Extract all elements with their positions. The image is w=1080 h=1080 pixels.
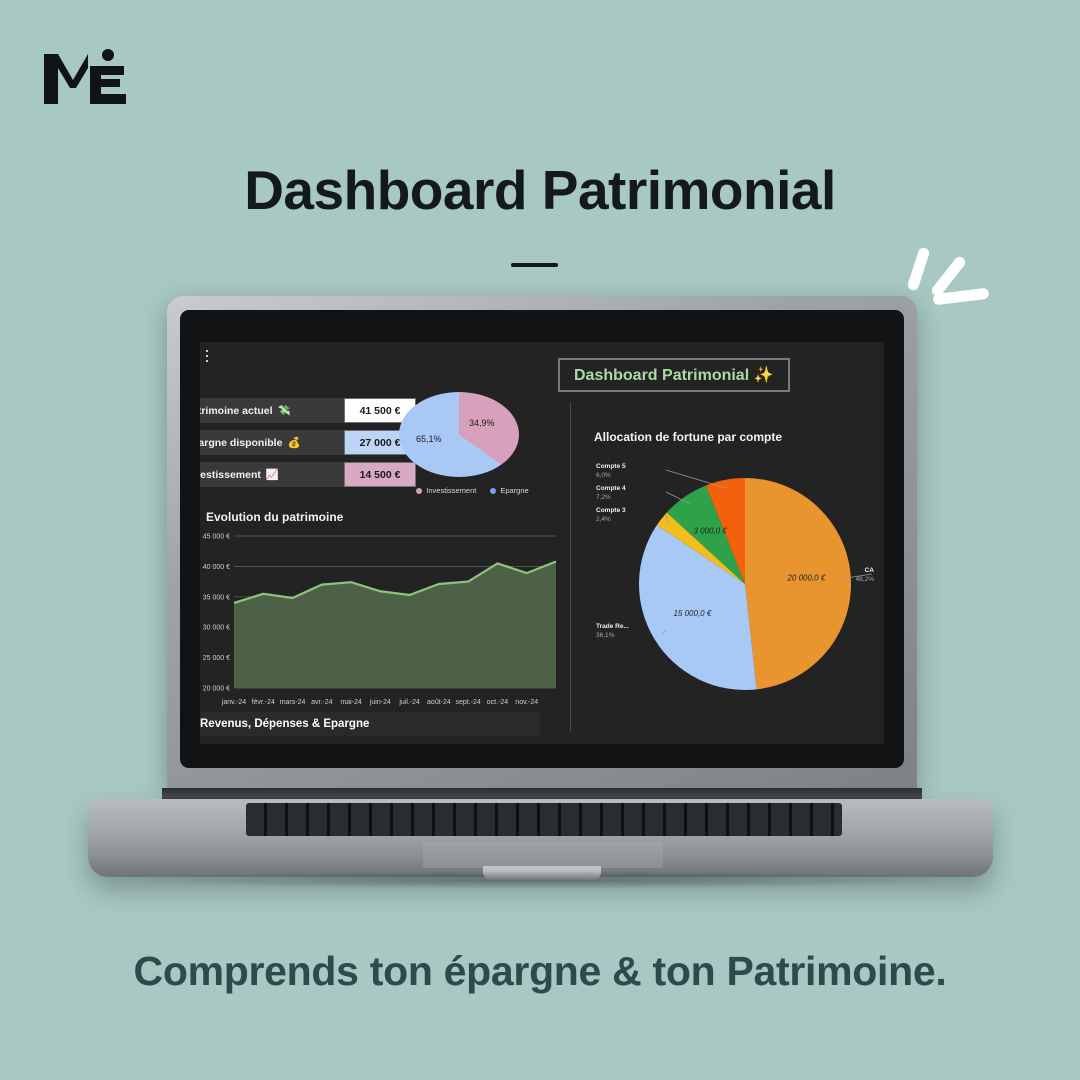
laptop-screen: Dashboard Patrimonial ✨ Patrimoine actue… <box>200 342 884 744</box>
svg-text:20 000,0 €: 20 000,0 € <box>786 574 825 583</box>
area-fill <box>234 562 556 689</box>
dashboard-app: Dashboard Patrimonial ✨ Patrimoine actue… <box>200 342 884 744</box>
svg-text:Compte 4: Compte 4 <box>596 485 626 492</box>
svg-text:6,0%: 6,0% <box>596 472 611 479</box>
pie-graphic: 34,9% 65,1% <box>399 392 519 477</box>
x-axis-tick-labels: janv.-24févr.-24mars-24avr.-24mai-24juin… <box>221 699 538 706</box>
spark-stroke-1 <box>906 246 930 291</box>
legend-swatch-icon <box>416 488 422 494</box>
laptop-shadow <box>118 871 963 889</box>
page-title: Dashboard Patrimonial <box>0 158 1080 222</box>
legend-label: Investissement <box>426 486 476 495</box>
money-bag-emoji: 💰 <box>287 436 300 449</box>
svg-text:juil.-24: juil.-24 <box>398 699 420 706</box>
pie-slice-label-investissement: 34,9% <box>469 418 495 428</box>
kpi-card-list: Patrimoine actuel 💸 41 500 € Epargne dis… <box>200 398 416 494</box>
screen-bezel: Dashboard Patrimonial ✨ Patrimoine actue… <box>180 310 904 768</box>
kpi-card-investissement[interactable]: Investissement 📈 14 500 € <box>200 462 416 487</box>
svg-text:15 000,0 €: 15 000,0 € <box>673 609 711 618</box>
laptop-trackpad <box>423 842 663 868</box>
svg-text:7,2%: 7,2% <box>596 494 611 501</box>
laptop-keyboard <box>246 803 842 836</box>
kpi-card-epargne-disponible[interactable]: Epargne disponible 💰 27 000 € <box>200 430 416 455</box>
svg-text:25 000 €: 25 000 € <box>203 655 230 662</box>
kpi-card-patrimoine-actuel[interactable]: Patrimoine actuel 💸 41 500 € <box>200 398 416 423</box>
svg-text:oct.-24: oct.-24 <box>487 699 509 706</box>
chart-increasing-emoji: 📈 <box>266 468 279 481</box>
evolution-chart-title: Evolution du patrimoine <box>206 510 343 524</box>
repartition-pie-chart: 34,9% 65,1% Investissement Epargne <box>385 390 560 515</box>
kpi-text: Patrimoine actuel <box>200 405 273 417</box>
svg-text:45 000 €: 45 000 € <box>203 534 230 541</box>
section-divider <box>570 402 571 732</box>
legend-item-investissement: Investissement <box>416 486 476 495</box>
svg-text:20 000 €: 20 000 € <box>203 686 230 693</box>
title-divider <box>511 263 558 267</box>
svg-text:sept.-24: sept.-24 <box>456 699 481 706</box>
svg-text:36,1%: 36,1% <box>596 632 615 639</box>
pie-slices: 20 000,0 €15 000,0 €3 000,0 € <box>639 478 851 690</box>
laptop-lid: Dashboard Patrimonial ✨ Patrimoine actue… <box>167 296 917 794</box>
pie-slice-label-epargne: 65,1% <box>416 434 442 444</box>
svg-text:30 000 €: 30 000 € <box>203 625 230 632</box>
svg-text:févr.-24: févr.-24 <box>252 699 275 706</box>
svg-text:mars-24: mars-24 <box>280 699 306 706</box>
svg-text:48,2%: 48,2% <box>856 576 875 583</box>
svg-text:mai-24: mai-24 <box>340 699 362 706</box>
evolution-area-chart: 45 000 €40 000 €35 000 €30 000 €25 000 €… <box>200 530 562 710</box>
laptop-mockup: Dashboard Patrimonial ✨ Patrimoine actue… <box>88 296 993 888</box>
pie-legend: Investissement Epargne <box>385 486 560 495</box>
bottom-section-title: Revenus, Dépenses & Epargne <box>200 712 540 736</box>
svg-text:avr.-24: avr.-24 <box>311 699 333 706</box>
allocation-pie-chart: 20 000,0 €15 000,0 €3 000,0 € CA48,2%Tra… <box>582 446 884 714</box>
kpi-text: Investissement <box>200 469 261 481</box>
svg-text:Trade Re...: Trade Re... <box>596 623 629 630</box>
svg-text:3 000,0 €: 3 000,0 € <box>693 526 727 535</box>
allocation-chart-card: Allocation de fortune par compte 20 000,… <box>582 430 884 730</box>
legend-item-epargne: Epargne <box>490 486 528 495</box>
kpi-label: Patrimoine actuel 💸 <box>200 398 344 423</box>
svg-text:Compte 5: Compte 5 <box>596 463 626 470</box>
kpi-label: Investissement 📈 <box>200 462 344 487</box>
money-with-wings-emoji: 💸 <box>278 404 291 417</box>
page-caption: Comprends ton épargne & ton Patrimoine. <box>0 948 1080 995</box>
allocation-chart-title: Allocation de fortune par compte <box>594 430 782 444</box>
menu-dots-icon[interactable] <box>206 350 208 365</box>
svg-text:CA: CA <box>865 567 875 574</box>
kpi-text: Epargne disponible <box>200 437 282 449</box>
svg-text:35 000 €: 35 000 € <box>203 594 230 601</box>
evolution-chart-card: Evolution du patrimoine 45 000 €40 000 €… <box>200 510 562 710</box>
brand-logo <box>38 46 130 108</box>
svg-text:2,4%: 2,4% <box>596 516 611 523</box>
svg-text:août-24: août-24 <box>427 699 451 706</box>
svg-text:Compte 3: Compte 3 <box>596 507 626 514</box>
y-axis-tick-labels: 45 000 €40 000 €35 000 €30 000 €25 000 €… <box>203 534 230 693</box>
svg-text:juin-24: juin-24 <box>369 699 391 706</box>
legend-swatch-icon <box>490 488 496 494</box>
svg-text:janv.-24: janv.-24 <box>221 699 246 706</box>
dashboard-title: Dashboard Patrimonial ✨ <box>558 358 790 392</box>
svg-text:nov.-24: nov.-24 <box>515 699 538 706</box>
legend-label: Epargne <box>500 486 528 495</box>
svg-text:40 000 €: 40 000 € <box>203 564 230 571</box>
kpi-label: Epargne disponible 💰 <box>200 430 344 455</box>
